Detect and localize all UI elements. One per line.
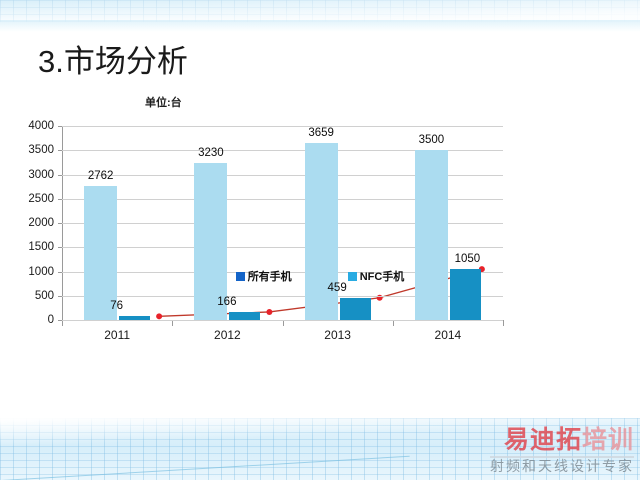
slide-canvas: 3.市场分析 单位:台 0500100015002000250030003500…: [0, 0, 640, 480]
logo-subtitle: 射频和天线设计专家: [490, 459, 634, 474]
chart-legend: 所有手机NFC手机: [0, 268, 640, 284]
x-axis-tick: [283, 321, 284, 326]
bar-value-label-all-phones: 3500: [396, 134, 466, 146]
market-analysis-chart: 单位:台 05001000150020002500300035004000276…: [0, 90, 640, 390]
x-axis-tick-label: 2013: [308, 328, 368, 342]
legend-item-label: NFC手机: [360, 268, 405, 284]
y-axis-tick-label: 0: [14, 314, 54, 326]
top-decoration-banner: [0, 0, 640, 22]
logo-main-text: 易迪拓培训: [490, 427, 634, 453]
bar-value-label-all-phones: 3230: [176, 147, 246, 159]
y-axis-tick: [58, 223, 62, 224]
watermark-logo: 易迪拓培训 射频和天线设计专家: [490, 427, 634, 474]
bar-value-label-all-phones: 3659: [286, 127, 356, 139]
x-axis-tick-label: 2012: [197, 328, 257, 342]
legend-item-label: 所有手机: [248, 268, 292, 284]
bar-value-label-nfc-phones: 76: [82, 300, 152, 312]
legend-item[interactable]: NFC手机: [348, 268, 405, 284]
page-title: 3.市场分析: [38, 36, 188, 81]
top-banner-fade: [0, 20, 640, 32]
y-axis-tick-label: 3500: [14, 144, 54, 156]
bar-value-label-all-phones: 2762: [66, 170, 136, 182]
y-axis-tick: [58, 296, 62, 297]
y-axis-tick: [58, 175, 62, 176]
x-axis-tick: [62, 321, 63, 326]
x-axis-tick: [503, 321, 504, 326]
bar-value-label-nfc-phones: 1050: [432, 253, 502, 265]
plot-area: [62, 126, 503, 320]
x-axis-tick-label: 2011: [87, 328, 147, 342]
legend-item[interactable]: 所有手机: [236, 268, 292, 284]
y-axis-tick-label: 500: [14, 290, 54, 302]
y-axis-tick: [58, 126, 62, 127]
bar-nfc-phones: [229, 312, 260, 320]
legend-swatch-icon: [348, 272, 357, 281]
y-axis-tick-label: 3000: [14, 169, 54, 181]
trend-line-marker: [266, 309, 272, 315]
y-axis-tick-label: 2500: [14, 193, 54, 205]
y-axis-tick-label: 4000: [14, 120, 54, 132]
legend-swatch-icon: [236, 272, 245, 281]
logo-text-part-1: 易迪拓: [504, 426, 582, 454]
x-axis-tick: [172, 321, 173, 326]
y-axis-tick: [58, 199, 62, 200]
logo-text-part-2: 培训: [582, 426, 634, 454]
y-axis-tick-label: 1500: [14, 241, 54, 253]
y-axis-tick: [58, 247, 62, 248]
bar-nfc-phones: [340, 298, 371, 320]
trend-line-marker: [156, 313, 162, 319]
bar-all-phones: [415, 150, 448, 320]
x-axis-tick-label: 2014: [418, 328, 478, 342]
y-axis-tick-label: 2000: [14, 217, 54, 229]
chart-unit-label: 单位:台: [145, 94, 182, 110]
bar-value-label-nfc-phones: 166: [192, 296, 262, 308]
y-axis-tick: [58, 150, 62, 151]
bar-nfc-phones: [119, 316, 150, 320]
x-axis-tick: [393, 321, 394, 326]
gridline: [62, 126, 503, 127]
